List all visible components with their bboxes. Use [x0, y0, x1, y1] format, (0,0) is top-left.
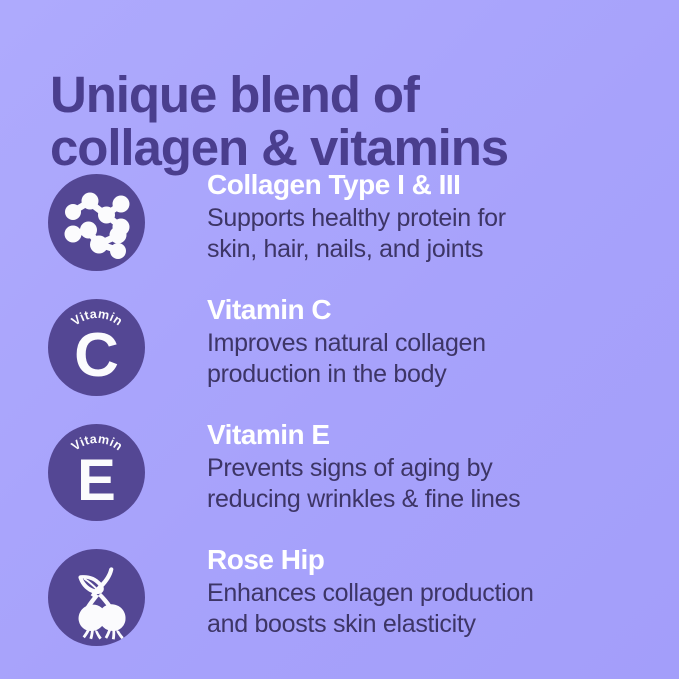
feature-row: Collagen Type I & III Supports healthy p… [48, 168, 648, 290]
vitamin-e-letter: E [77, 448, 116, 513]
rose-hip-icon [48, 549, 145, 646]
vitamin-e-badge: Vitamin E [48, 424, 145, 521]
feature-copy: Vitamin E Prevents signs of aging by red… [207, 418, 649, 515]
feature-title: Rose Hip [207, 543, 649, 576]
molecule-badge [48, 174, 145, 271]
feature-copy: Vitamin C Improves natural collagen prod… [207, 293, 649, 390]
feature-row: Rose Hip Enhances collagen production an… [48, 543, 648, 665]
feature-row: Vitamin E Vitamin E Prevents signs of ag… [48, 418, 648, 540]
feature-description: Prevents signs of aging by reducing wrin… [207, 453, 649, 515]
feature-title: Collagen Type I & III [207, 168, 649, 201]
vitamin-c-badge: Vitamin C [48, 299, 145, 396]
rose-hip-badge [48, 549, 145, 646]
feature-title: Vitamin E [207, 418, 649, 451]
feature-title: Vitamin C [207, 293, 649, 326]
vitamin-c-letter: C [74, 321, 119, 390]
page-title: Unique blend of collagen & vitamins [50, 68, 650, 174]
feature-row: Vitamin C Vitamin C Improves natural col… [48, 293, 648, 415]
molecule-icon [48, 174, 145, 271]
feature-description: Improves natural collagen production in … [207, 328, 649, 390]
infographic-panel: Unique blend of collagen & vitamins [0, 0, 679, 679]
vitamin-e-icon: Vitamin E [48, 424, 145, 521]
feature-description: Enhances collagen production and boosts … [207, 578, 649, 640]
feature-copy: Collagen Type I & III Supports healthy p… [207, 168, 649, 265]
vitamin-c-icon: Vitamin C [48, 299, 145, 396]
feature-copy: Rose Hip Enhances collagen production an… [207, 543, 649, 640]
feature-description: Supports healthy protein for skin, hair,… [207, 203, 649, 265]
